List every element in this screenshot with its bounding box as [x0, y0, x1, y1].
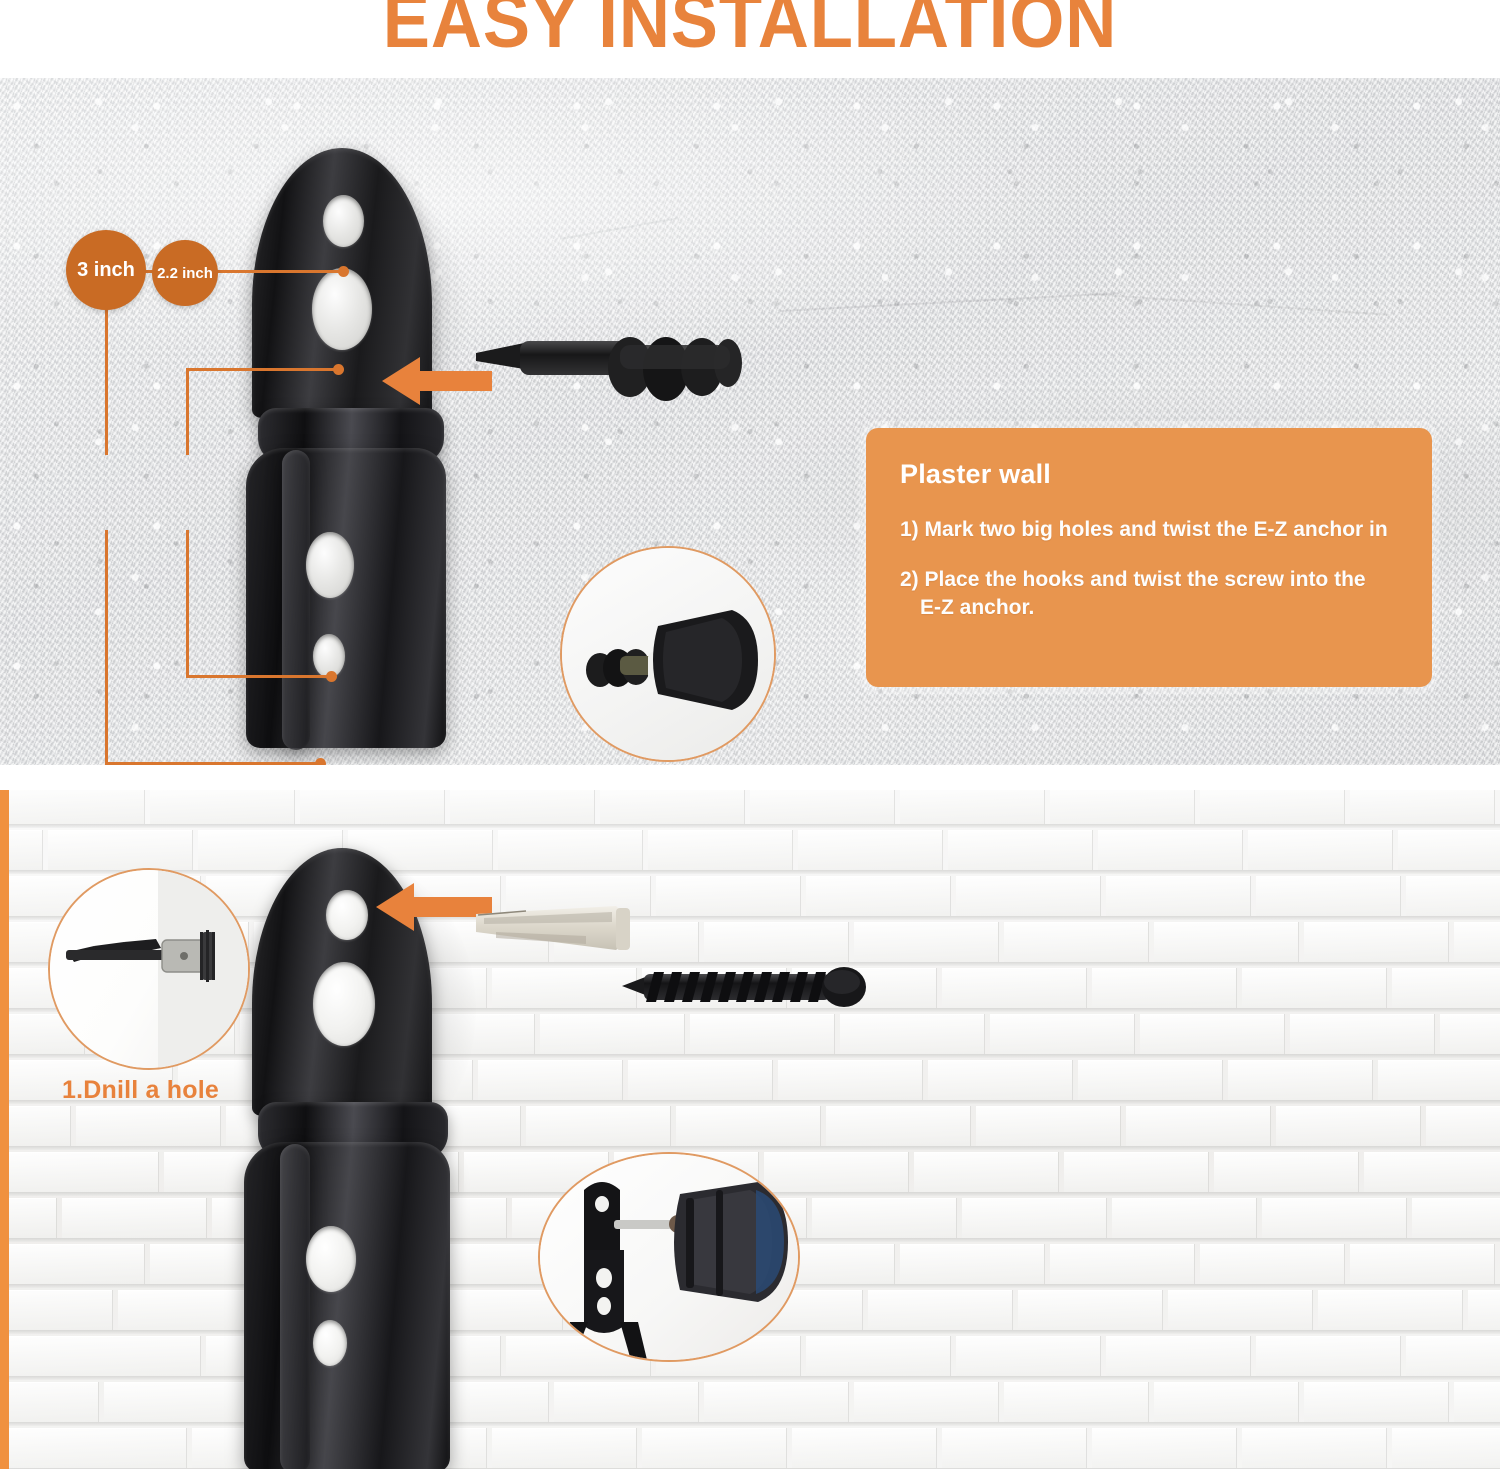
drill-hole-inset-label: 1.Dnill a hole: [62, 1076, 219, 1105]
brick-unit: [1468, 1290, 1500, 1330]
brick-row: [0, 1380, 1500, 1426]
brick-unit: [1168, 1290, 1312, 1330]
brick-unit: [0, 1106, 70, 1146]
leader-endpoint-dot: [315, 758, 326, 765]
leader-endpoint-dot: [326, 671, 337, 682]
brick-unit: [0, 1336, 200, 1376]
brick-unit: [150, 790, 294, 824]
leader-endpoint-dot: [338, 266, 349, 277]
power-drill-inset: [538, 1152, 800, 1362]
leader-line-horizontal: [186, 368, 338, 371]
brick-unit: [1304, 1382, 1448, 1422]
brick-unit: [1214, 1152, 1358, 1192]
brick-unit: [492, 1428, 636, 1468]
brick-unit: [1200, 790, 1344, 824]
brick-unit: [1106, 876, 1250, 916]
page-title: EASY INSTALLATION: [53, 0, 1448, 60]
instruction-panel-plaster: Plaster wall 1) Mark two big holes and t…: [866, 428, 1432, 687]
brick-unit: [1050, 1244, 1194, 1284]
leader-line-vertical: [186, 368, 189, 455]
brick-unit: [956, 1336, 1100, 1376]
brick-unit: [1004, 922, 1148, 962]
leader-line-vertical: [186, 530, 189, 678]
brick-unit: [0, 1428, 186, 1468]
brick-unit: [1276, 1106, 1420, 1146]
brick-unit: [676, 1106, 820, 1146]
brick-unit: [642, 1428, 786, 1468]
brick-unit: [750, 790, 894, 824]
brick-unit: [1092, 1428, 1236, 1468]
brick-row: [0, 790, 1500, 828]
measure-badge-label: 2.2 inch: [157, 266, 213, 281]
instruction-step-2-line1: 2) Place the hooks and twist the screw i…: [900, 568, 1366, 591]
brick-unit: [1378, 1060, 1500, 1100]
brick-unit: [1426, 1106, 1500, 1146]
brick-unit: [0, 1152, 158, 1192]
hook-lower-arm: [244, 1142, 450, 1469]
brick-unit: [0, 1244, 144, 1284]
measure-badge-label: 3 inch: [77, 260, 135, 280]
brick-unit: [1050, 790, 1194, 824]
brick-unit: [1242, 968, 1386, 1008]
brick-unit: [1364, 1152, 1500, 1192]
brick-unit: [792, 1428, 936, 1468]
brick-unit: [914, 1152, 1058, 1192]
brick-unit: [118, 1290, 262, 1330]
brick-row: [0, 1426, 1500, 1469]
brick-unit: [778, 1060, 922, 1100]
instruction-step-1: 1) Mark two big holes and twist the E-Z …: [900, 516, 1398, 544]
header-bar: EASY INSTALLATION: [0, 0, 1500, 78]
brick-unit: [300, 790, 444, 824]
measure-badge-2-2-inch: 2.2 inch: [152, 240, 218, 306]
brick-unit: [854, 922, 998, 962]
brick-unit: [498, 830, 642, 870]
hook-arm-hole-large: [306, 1226, 356, 1292]
brick-unit: [1092, 968, 1236, 1008]
hook-upper-hole: [326, 890, 368, 940]
brick-unit: [928, 1060, 1072, 1100]
leader-line-vertical: [105, 530, 108, 765]
brick-unit: [942, 968, 1086, 1008]
brick-unit: [942, 1428, 1086, 1468]
brick-unit: [0, 790, 144, 824]
brick-unit: [806, 1336, 950, 1376]
brick-unit: [1440, 1014, 1500, 1054]
brick-unit: [1126, 1106, 1270, 1146]
brick-unit: [1154, 922, 1298, 962]
brick-row: [0, 1104, 1500, 1150]
brick-unit: [1256, 876, 1400, 916]
brick-unit: [812, 1198, 956, 1238]
brick-unit: [948, 830, 1092, 870]
brick-unit: [656, 876, 800, 916]
instruction-step-2-line2: E-Z anchor.: [900, 594, 1034, 622]
brick-unit: [1290, 1014, 1434, 1054]
hook-large-hole: [312, 268, 372, 350]
hook-lower-arm: [246, 448, 446, 748]
panel-brick-wall: 1.Dnill a hole: [0, 790, 1500, 1469]
brick-unit: [1392, 968, 1500, 1008]
brick-unit: [1398, 830, 1500, 870]
brick-unit: [1454, 1382, 1500, 1422]
brick-unit: [962, 1198, 1106, 1238]
brick-unit: [1106, 1336, 1250, 1376]
brick-unit: [104, 1382, 248, 1422]
brick-unit: [1200, 1244, 1344, 1284]
brick-unit: [900, 1244, 1044, 1284]
brick-unit: [0, 1290, 112, 1330]
brick-unit: [806, 876, 950, 916]
brick-unit: [1140, 1014, 1284, 1054]
brick-unit: [1018, 1290, 1162, 1330]
brick-unit: [450, 790, 594, 824]
brick-unit: [798, 830, 942, 870]
brick-unit: [554, 1382, 698, 1422]
hook-arm-hole-small: [313, 1320, 347, 1366]
brick-unit: [492, 968, 636, 1008]
brick-unit: [62, 1198, 206, 1238]
brick-unit: [854, 1382, 998, 1422]
brick-unit: [1392, 1428, 1500, 1468]
drill-hole-inset: [48, 868, 250, 1070]
panel-plaster-wall: 3 inch 2.2 inch: [0, 78, 1500, 765]
brick-unit: [1078, 1060, 1222, 1100]
brick-unit: [1454, 922, 1500, 962]
brick-unit: [628, 1060, 772, 1100]
brick-unit: [990, 1014, 1134, 1054]
brick-unit: [1228, 1060, 1372, 1100]
brick-unit: [1318, 1290, 1462, 1330]
hook-arm-hole-large: [306, 532, 354, 598]
brick-unit: [648, 830, 792, 870]
brick-unit: [1406, 1336, 1500, 1376]
brick-unit: [1154, 1382, 1298, 1422]
leader-endpoint-dot: [333, 364, 344, 375]
brick-unit: [1350, 790, 1494, 824]
brick-unit: [976, 1106, 1120, 1146]
brick-unit: [1098, 830, 1242, 870]
brick-unit: [600, 790, 744, 824]
brick-unit: [1406, 876, 1500, 916]
brick-unit: [1350, 1244, 1494, 1284]
instruction-step-2: 2) Place the hooks and twist the screw i…: [900, 566, 1398, 621]
brick-unit: [1262, 1198, 1406, 1238]
brick-unit: [868, 1290, 1012, 1330]
brick-unit: [956, 876, 1100, 916]
infographic-root: EASY INSTALLATION: [0, 0, 1500, 1469]
panel-divider: [0, 765, 1500, 790]
instruction-panel-title: Plaster wall: [900, 458, 1398, 490]
brick-unit: [1304, 922, 1448, 962]
brick-unit: [1248, 830, 1392, 870]
leader-line-horizontal: [186, 675, 332, 678]
hook-large-hole: [313, 962, 375, 1046]
brick-unit: [1112, 1198, 1256, 1238]
hook-arm-highlight: [282, 450, 310, 750]
brick-unit: [900, 790, 1044, 824]
measure-badge-3-inch: 3 inch: [66, 230, 146, 310]
hook-upper-hole: [323, 195, 364, 247]
brick-unit: [478, 1060, 622, 1100]
brick-row: [0, 828, 1500, 874]
driver-anchor-inset: [560, 546, 776, 762]
panel-accent-stripe: [0, 790, 9, 1469]
brick-unit: [526, 1106, 670, 1146]
brick-unit: [826, 1106, 970, 1146]
brick-unit: [76, 1106, 220, 1146]
brick-unit: [1412, 1198, 1500, 1238]
brick-unit: [0, 1382, 98, 1422]
hook-arm-highlight: [280, 1144, 310, 1469]
brick-unit: [704, 1382, 848, 1422]
brick-unit: [48, 830, 192, 870]
brick-unit: [1064, 1152, 1208, 1192]
brick-unit: [1004, 1382, 1148, 1422]
brick-unit: [1256, 1336, 1400, 1376]
brick-unit: [1242, 1428, 1386, 1468]
